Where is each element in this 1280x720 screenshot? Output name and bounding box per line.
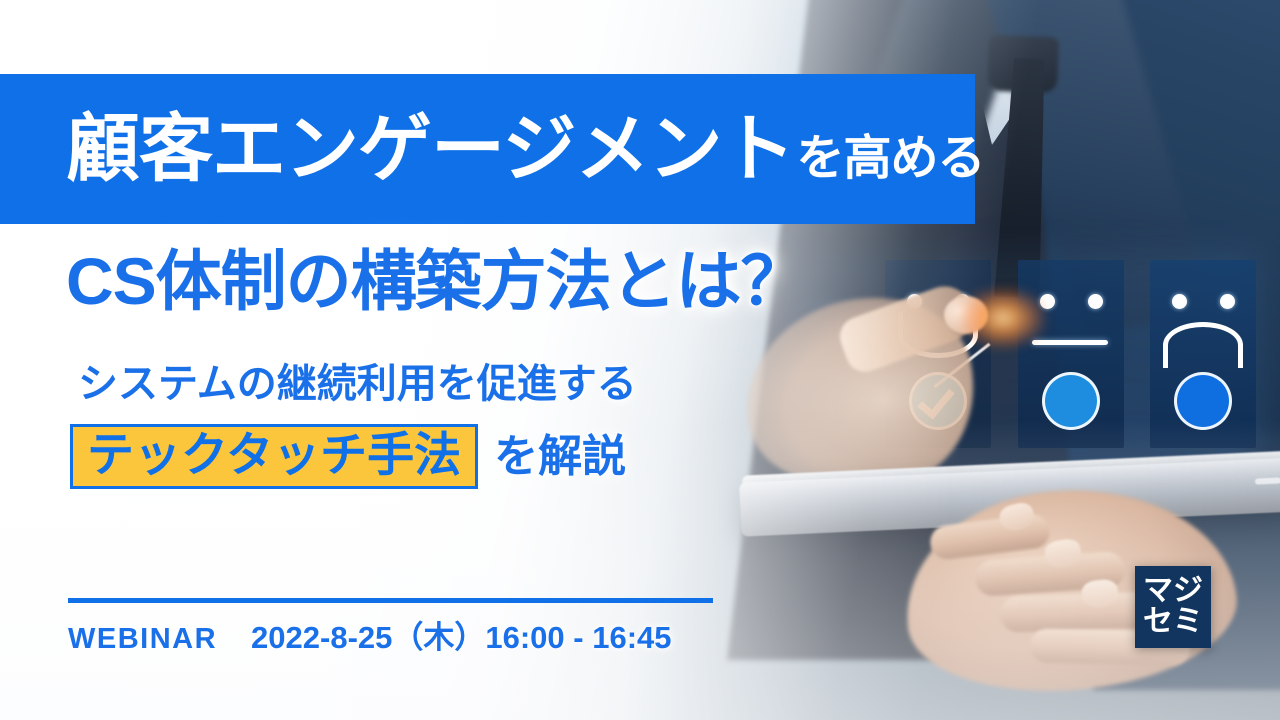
- headline-secondary: CS体制の構築方法とは？: [66, 248, 806, 314]
- highlight-box-text: テックタッチ手法: [87, 428, 461, 481]
- logo-line-2: セミ: [1143, 607, 1203, 638]
- subtitle-tail-text: を解説: [494, 435, 626, 479]
- meta-row: WEBINAR 2022-8-25（木）16:00 - 16:45: [68, 612, 672, 657]
- webinar-label: WEBINAR: [68, 623, 217, 656]
- headline-band-inner: 顧客エンゲージメント を高める: [0, 112, 985, 186]
- logo-line-1: マジ: [1143, 576, 1203, 607]
- webinar-datetime: 2022-8-25（木）16:00 - 16:45: [251, 612, 671, 657]
- webinar-banner: 顧客エンゲージメント を高める CS体制の構築方法とは？ システムの継続利用を促…: [0, 0, 1280, 720]
- headline-band: 顧客エンゲージメント を高める: [0, 74, 975, 224]
- highlight-box: テックタッチ手法: [70, 424, 478, 489]
- majisemi-logo[interactable]: マジ セミ: [1135, 566, 1211, 648]
- subtitle-line-2: テックタッチ手法 を解説: [70, 424, 626, 489]
- meta-divider: [68, 598, 713, 603]
- headline-suffix-text: を高める: [797, 135, 985, 183]
- headline-main-text: 顧客エンゲージメント: [66, 112, 795, 186]
- subtitle-line-1: システムの継続利用を促進する: [78, 364, 637, 404]
